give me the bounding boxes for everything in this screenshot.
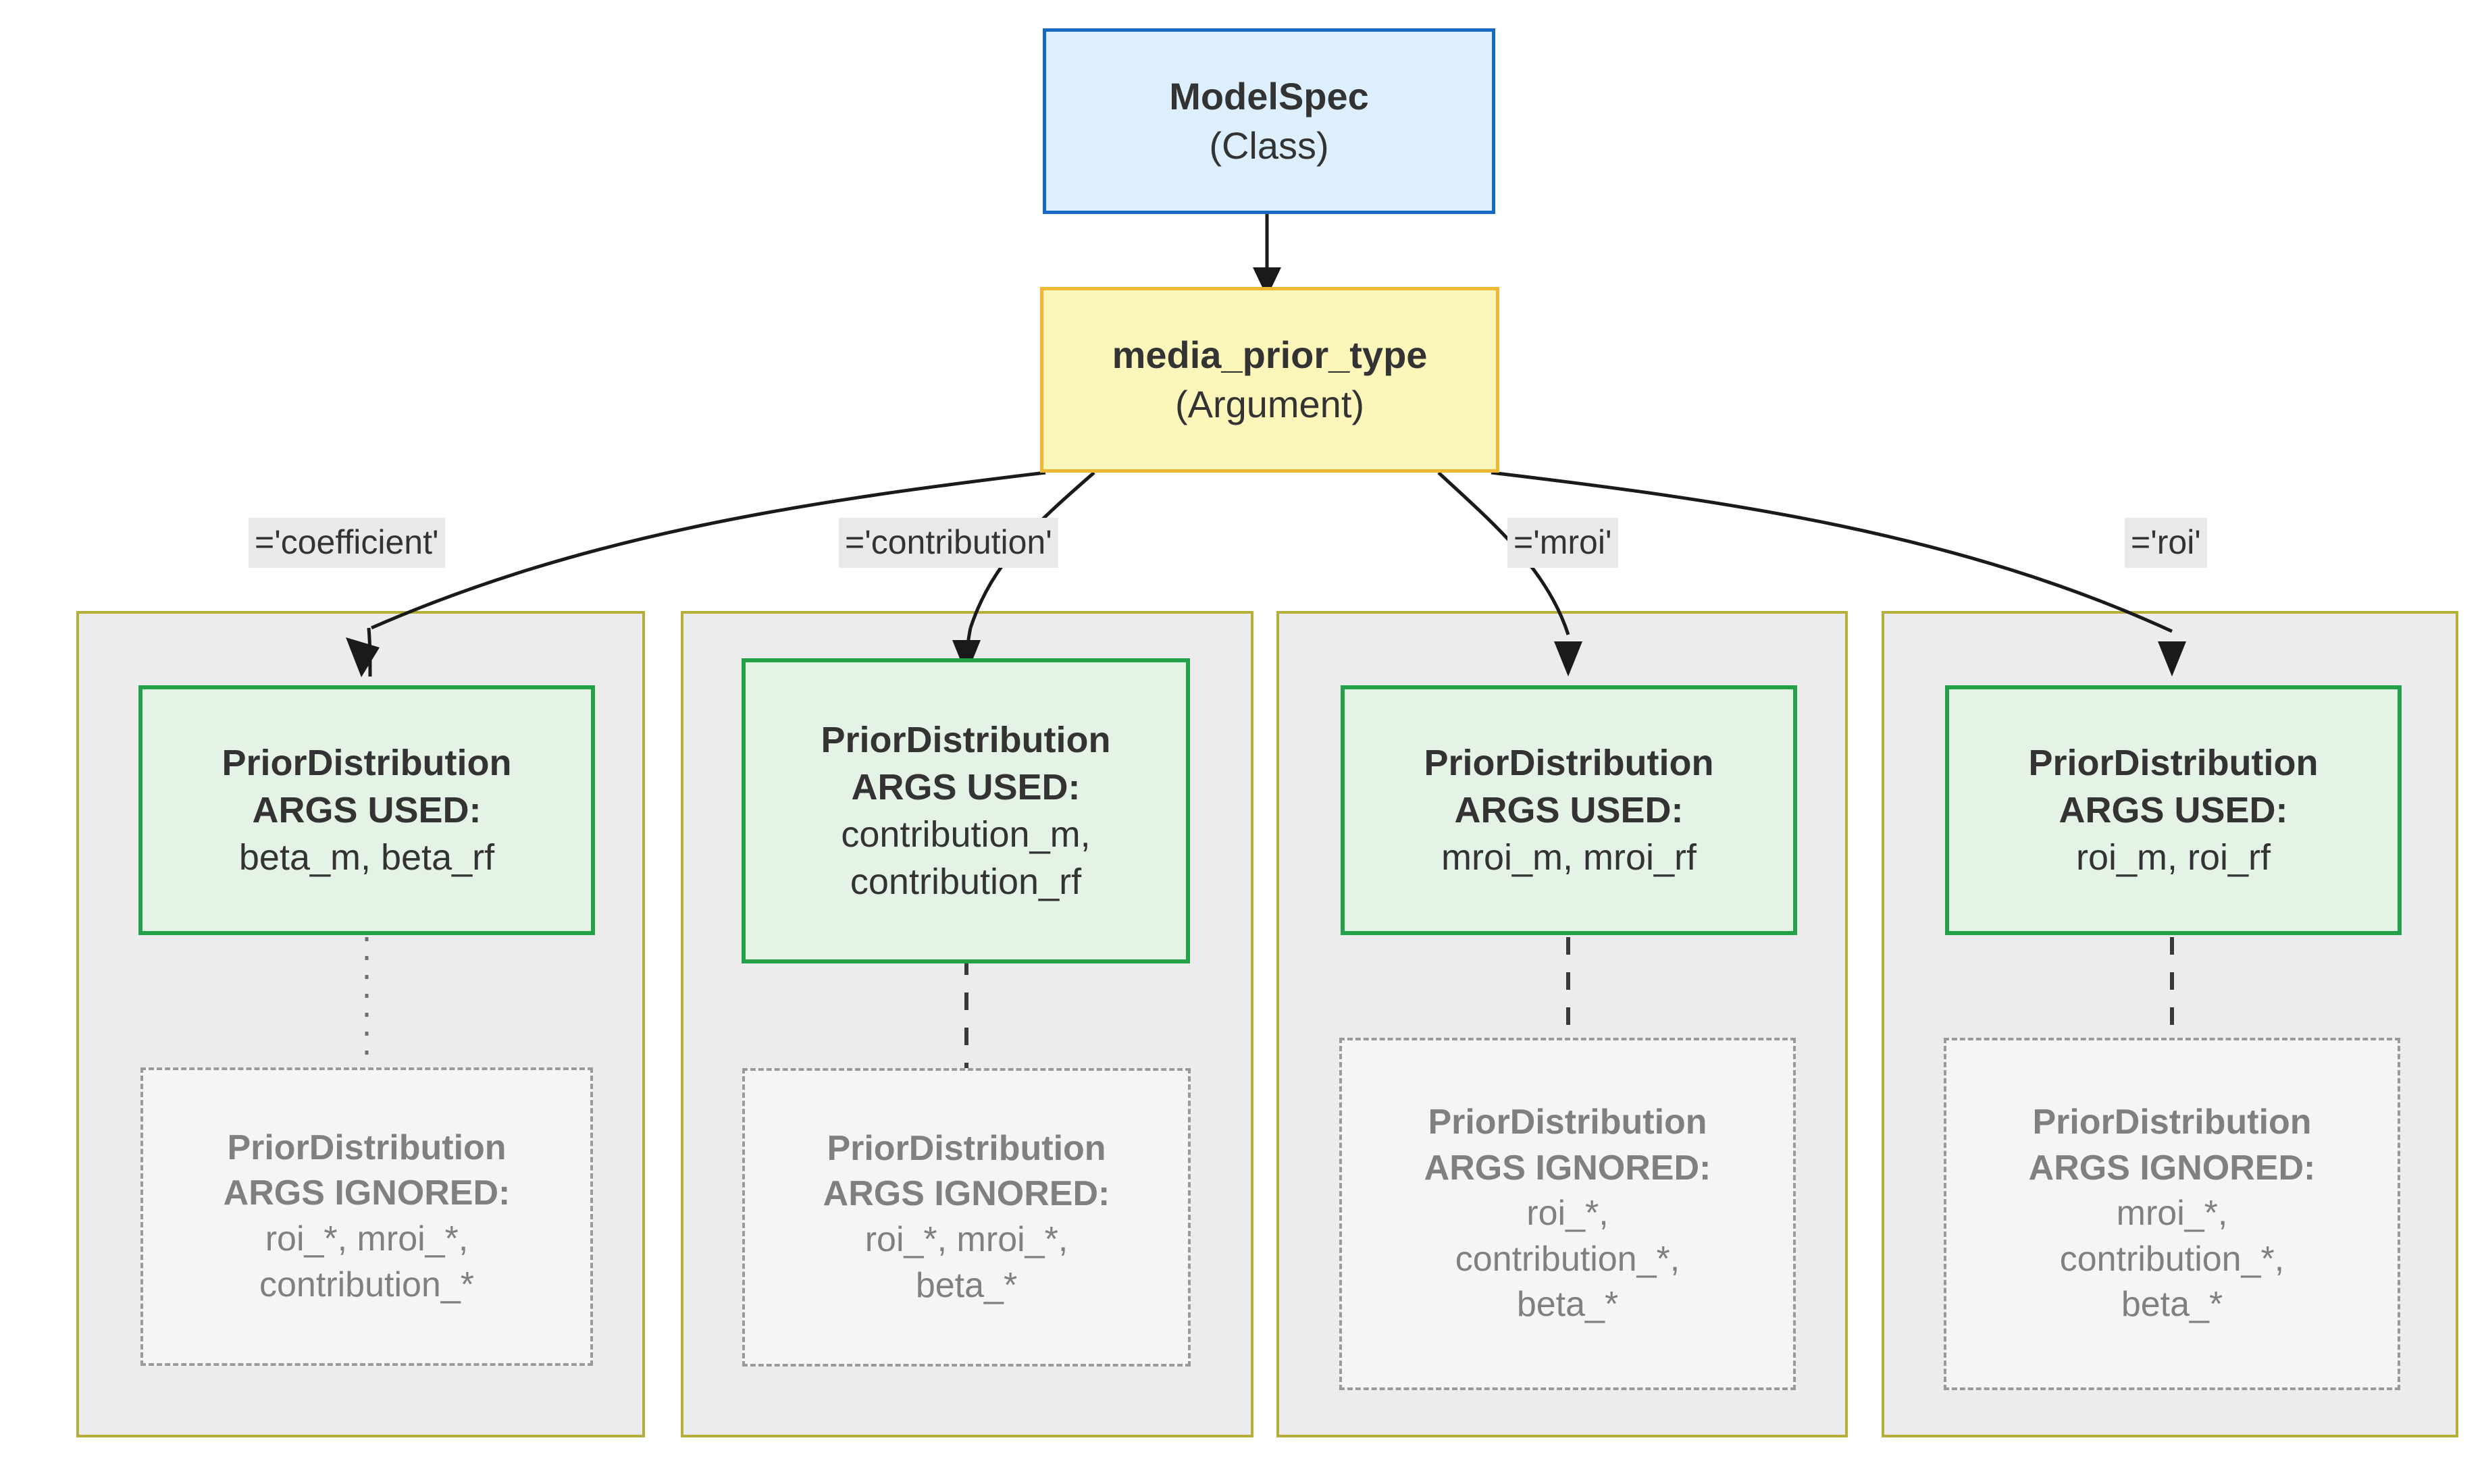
args-ignored-value: roi_*, mroi_*, xyxy=(265,1217,469,1263)
args-used-subtitle: ARGS USED: xyxy=(2059,787,2287,834)
args-ignored-subtitle: ARGS IGNORED: xyxy=(1424,1146,1711,1192)
edge-label-coefficient: ='coefficient' xyxy=(249,518,445,568)
args-used-value: roi_m, roi_rf xyxy=(2076,834,2271,881)
args-ignored-title: PriorDistribution xyxy=(827,1126,1106,1172)
node-args-ignored-contribution[interactable]: PriorDistribution ARGS IGNORED: roi_*, m… xyxy=(742,1068,1191,1367)
args-ignored-title: PriorDistribution xyxy=(2032,1100,2311,1146)
args-used-subtitle: ARGS USED: xyxy=(1454,787,1683,834)
args-used-value: beta_m, beta_rf xyxy=(239,834,494,881)
args-used-value: mroi_m, mroi_rf xyxy=(1441,834,1697,881)
args-used-subtitle: ARGS USED: xyxy=(851,764,1080,811)
args-used-value: contribution_m, xyxy=(841,811,1090,858)
args-used-title: PriorDistribution xyxy=(2029,739,2319,787)
args-ignored-value: contribution_* xyxy=(259,1263,474,1308)
node-modelspec[interactable]: ModelSpec (Class) xyxy=(1043,28,1495,214)
args-ignored-subtitle: ARGS IGNORED: xyxy=(2029,1146,2316,1192)
node-args-used-contribution[interactable]: PriorDistribution ARGS USED: contributio… xyxy=(742,658,1190,963)
args-used-value: contribution_rf xyxy=(850,858,1081,905)
node-media-prior-type-title: media_prior_type xyxy=(1112,331,1428,380)
args-ignored-value: roi_*, xyxy=(1526,1191,1608,1237)
args-ignored-value: beta_* xyxy=(2121,1282,2223,1328)
args-ignored-subtitle: ARGS IGNORED: xyxy=(224,1171,511,1217)
node-args-used-mroi[interactable]: PriorDistribution ARGS USED: mroi_m, mro… xyxy=(1341,685,1797,935)
args-used-title: PriorDistribution xyxy=(222,739,512,787)
node-args-used-roi[interactable]: PriorDistribution ARGS USED: roi_m, roi_… xyxy=(1945,685,2402,935)
edge-label-mroi: ='mroi' xyxy=(1507,518,1618,568)
node-modelspec-title: ModelSpec xyxy=(1169,72,1369,122)
args-ignored-value: roi_*, mroi_*, xyxy=(865,1217,1068,1263)
node-modelspec-kind: (Class) xyxy=(1209,122,1328,171)
node-media-prior-type-kind: (Argument) xyxy=(1175,380,1364,429)
args-ignored-value: contribution_*, xyxy=(1455,1237,1680,1283)
args-ignored-subtitle: ARGS IGNORED: xyxy=(823,1171,1110,1217)
diagram-canvas: ModelSpec (Class) media_prior_type (Argu… xyxy=(0,0,2484,1484)
edge-label-contribution: ='contribution' xyxy=(839,518,1058,568)
args-used-title: PriorDistribution xyxy=(821,716,1111,764)
args-ignored-value: mroi_*, xyxy=(2117,1191,2228,1237)
args-used-title: PriorDistribution xyxy=(1424,739,1714,787)
node-args-used-coefficient[interactable]: PriorDistribution ARGS USED: beta_m, bet… xyxy=(138,685,595,935)
args-ignored-value: contribution_*, xyxy=(2060,1237,2284,1283)
args-ignored-value: beta_* xyxy=(916,1263,1017,1309)
node-args-ignored-roi[interactable]: PriorDistribution ARGS IGNORED: mroi_*, … xyxy=(1944,1038,2400,1390)
node-media-prior-type[interactable]: media_prior_type (Argument) xyxy=(1040,287,1499,473)
args-ignored-title: PriorDistribution xyxy=(227,1125,506,1171)
edge-label-roi: ='roi' xyxy=(2125,518,2207,568)
args-ignored-value: beta_* xyxy=(1517,1282,1618,1328)
args-ignored-title: PriorDistribution xyxy=(1428,1100,1707,1146)
node-args-ignored-mroi[interactable]: PriorDistribution ARGS IGNORED: roi_*, c… xyxy=(1339,1038,1796,1390)
args-used-subtitle: ARGS USED: xyxy=(252,787,481,834)
node-args-ignored-coefficient[interactable]: PriorDistribution ARGS IGNORED: roi_*, m… xyxy=(140,1067,593,1366)
